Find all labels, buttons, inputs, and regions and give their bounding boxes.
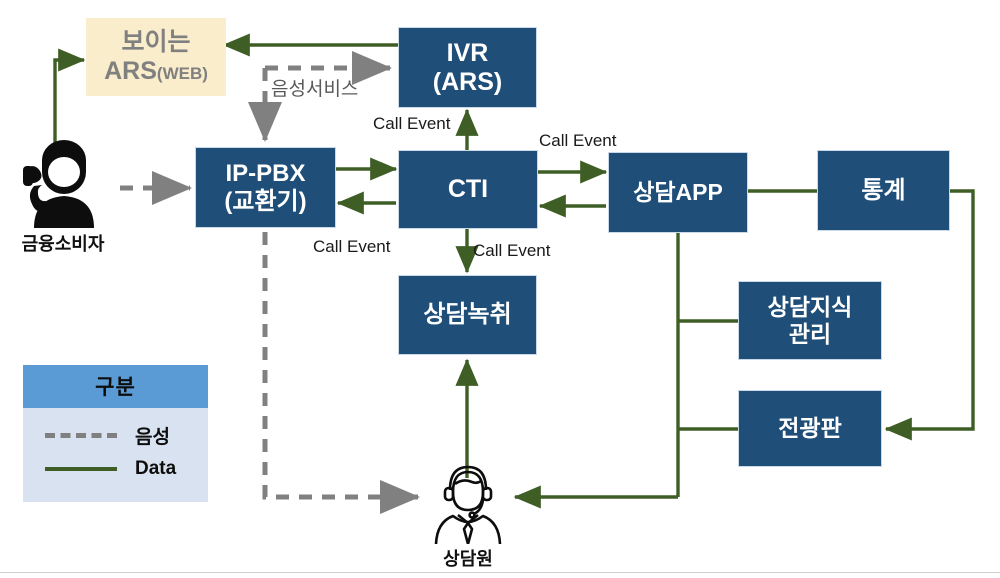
agent-label: 상담원 — [412, 545, 524, 571]
ip-pbx-line2: (교환기) — [224, 188, 306, 216]
node-ars-web[interactable]: 보이는 ARS(WEB) — [86, 18, 226, 96]
display-board-label: 전광판 — [778, 415, 841, 441]
legend: 구분 음성 Data — [22, 364, 209, 503]
legend-row-data: Data — [23, 452, 208, 486]
consumer-icon-wrap — [12, 140, 112, 228]
knowledge-line2: 관리 — [789, 321, 831, 347]
consumer-label: 금융소비자 — [4, 230, 122, 256]
node-cti[interactable]: CTI — [398, 150, 538, 229]
legend-dashed-swatch — [45, 433, 117, 438]
legend-label-data: Data — [135, 458, 176, 480]
agent-icon-wrap — [420, 460, 516, 544]
label-call-event-cti-app: Call Event — [539, 132, 616, 149]
recording-label: 상담녹취 — [423, 301, 511, 329]
label-voice-service: 음성서비스 — [271, 80, 358, 99]
node-counsel-app[interactable]: 상담APP — [608, 152, 748, 233]
node-display-board[interactable]: 전광판 — [738, 390, 882, 467]
ars-web-line2: ARS(WEB) — [104, 57, 208, 86]
ars-web-suffix: (WEB) — [157, 64, 208, 84]
legend-row-voice: 음성 — [23, 418, 208, 452]
statistics-label: 통계 — [861, 177, 905, 205]
legend-solid-swatch — [45, 467, 117, 471]
node-statistics[interactable]: 통계 — [817, 150, 950, 231]
legend-body: 음성 Data — [23, 408, 208, 502]
ip-pbx-line1: IP-PBX — [225, 160, 305, 188]
label-call-event-pbx-cti: Call Event — [313, 238, 390, 255]
ars-web-line1: 보이는 — [121, 28, 190, 57]
ars-web-main: ARS — [104, 57, 157, 86]
ivr-line2: (ARS) — [433, 68, 502, 97]
edge-consumer-to-arsweb — [55, 60, 84, 150]
legend-label-voice: 음성 — [135, 422, 170, 449]
cti-label: CTI — [448, 175, 488, 204]
label-call-event-cti-rec: Call Event — [473, 242, 550, 259]
label-call-event-ivr-cti: Call Event — [373, 115, 450, 132]
person-with-phone-icon — [12, 140, 112, 228]
node-recording[interactable]: 상담녹취 — [398, 275, 537, 355]
edge-pbx-to-agent-voice — [265, 232, 418, 497]
ivr-line1: IVR — [447, 39, 489, 68]
node-knowledge[interactable]: 상담지식 관리 — [738, 281, 882, 360]
legend-header: 구분 — [23, 365, 208, 408]
node-ivr[interactable]: IVR (ARS) — [398, 27, 537, 108]
node-ip-pbx[interactable]: IP-PBX (교환기) — [195, 147, 336, 228]
knowledge-line1: 상담지식 — [768, 294, 853, 320]
bottom-divider — [0, 572, 1000, 573]
counsel-app-label: 상담APP — [633, 179, 723, 205]
headset-agent-icon — [420, 460, 516, 544]
diagram-canvas: 보이는 ARS(WEB) IVR (ARS) IP-PBX (교환기) CTI … — [0, 0, 1000, 578]
